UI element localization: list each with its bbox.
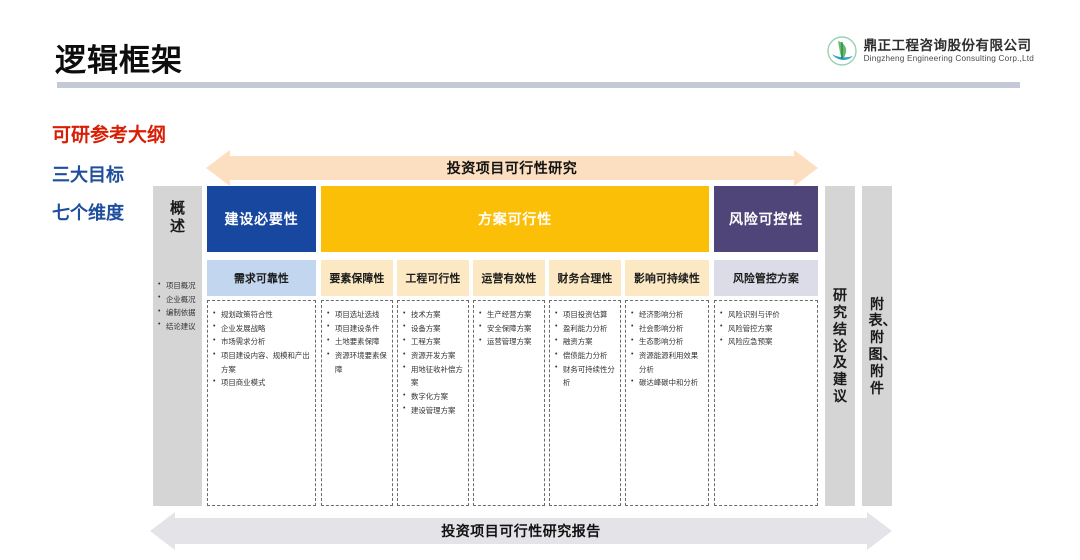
top-process-arrow: 投资项目可行性研究 bbox=[206, 150, 818, 186]
label-seven-dimensions: 七个维度 bbox=[52, 199, 124, 225]
list-item: 社会影响分析 bbox=[631, 322, 704, 336]
logo-name-en: Dingzheng Engineering Consulting Corp.,L… bbox=[864, 54, 1034, 64]
list-item: 盈利能力分析 bbox=[555, 322, 616, 336]
overview-title: 概述 bbox=[169, 200, 187, 235]
list-item: 企业概况 bbox=[158, 293, 198, 306]
detail-content-row: 规划政策符合性企业发展战略市场需求分析项目建设内容、规模和产出方案项目商业模式项… bbox=[207, 300, 818, 506]
list-item: 资源开发方案 bbox=[403, 349, 464, 363]
dimension-box-1[interactable]: 需求可靠性 bbox=[207, 260, 316, 296]
side-column-appendix: 附表、附图、附件 bbox=[862, 186, 892, 506]
list-item: 工程方案 bbox=[403, 335, 464, 349]
list-item: 融资方案 bbox=[555, 335, 616, 349]
detail-box-1: 规划政策符合性企业发展战略市场需求分析项目建设内容、规模和产出方案项目商业模式 bbox=[207, 300, 316, 506]
detail-box-5: 项目投资估算盈利能力分析融资方案偿债能力分析财务可持续性分析 bbox=[549, 300, 621, 506]
bottom-output-arrow: 投资项目可行性研究报告 bbox=[150, 512, 892, 550]
detail-box-3: 技术方案设备方案工程方案资源开发方案用地征收补偿方案数字化方案建设管理方案 bbox=[397, 300, 469, 506]
detail-box-6: 经济影响分析社会影响分析生态影响分析资源能源利用效果分析碳达峰碳中和分析 bbox=[625, 300, 709, 506]
list-item: 运营管理方案 bbox=[479, 335, 540, 349]
detail-bullet-list: 技术方案设备方案工程方案资源开发方案用地征收补偿方案数字化方案建设管理方案 bbox=[403, 308, 464, 418]
dimension-box-label: 风险管控方案 bbox=[733, 270, 799, 286]
top-arrow-label: 投资项目可行性研究 bbox=[206, 150, 818, 186]
dimension-box-label: 要素保障性 bbox=[330, 270, 385, 286]
group-box-3[interactable]: 风险可控性 bbox=[714, 186, 818, 252]
list-item: 数字化方案 bbox=[403, 390, 464, 404]
dimension-box-label: 影响可持续性 bbox=[634, 270, 700, 286]
list-item: 土地要素保障 bbox=[327, 335, 388, 349]
group-header-row: 建设必要性方案可行性风险可控性 bbox=[207, 186, 818, 252]
detail-bullet-list: 生产经营方案安全保障方案运营管理方案 bbox=[479, 308, 540, 349]
dimension-box-label: 财务合理性 bbox=[558, 270, 613, 286]
label-outline: 可研参考大纲 bbox=[52, 120, 166, 147]
dimension-box-7[interactable]: 风险管控方案 bbox=[714, 260, 818, 296]
dimension-box-2[interactable]: 要素保障性 bbox=[321, 260, 393, 296]
list-item: 项目建设条件 bbox=[327, 322, 388, 336]
list-item: 项目投资估算 bbox=[555, 308, 616, 322]
title-divider bbox=[57, 82, 1020, 88]
list-item: 生产经营方案 bbox=[479, 308, 540, 322]
list-item: 市场需求分析 bbox=[213, 335, 311, 349]
overview-bullet-list: 项目概况企业概况编制依据结论建议 bbox=[158, 279, 198, 333]
list-item: 安全保障方案 bbox=[479, 322, 540, 336]
detail-bullet-list: 规划政策符合性企业发展战略市场需求分析项目建设内容、规模和产出方案项目商业模式 bbox=[213, 308, 311, 390]
label-three-goals: 三大目标 bbox=[52, 161, 124, 187]
dimension-header-row: 需求可靠性要素保障性工程可行性运营有效性财务合理性影响可持续性风险管控方案 bbox=[207, 260, 818, 296]
list-item: 偿债能力分析 bbox=[555, 349, 616, 363]
detail-bullet-list: 风险识别与评价风险管控方案风险应急预案 bbox=[720, 308, 813, 349]
group-box-label: 风险可控性 bbox=[729, 209, 803, 229]
list-item: 碳达峰碳中和分析 bbox=[631, 376, 704, 390]
list-item: 项目概况 bbox=[158, 279, 198, 292]
group-box-2[interactable]: 方案可行性 bbox=[321, 186, 709, 252]
list-item: 用地征收补偿方案 bbox=[403, 363, 464, 390]
dimension-box-6[interactable]: 影响可持续性 bbox=[625, 260, 709, 296]
list-item: 规划政策符合性 bbox=[213, 308, 311, 322]
group-box-label: 建设必要性 bbox=[225, 209, 299, 229]
list-item: 生态影响分析 bbox=[631, 335, 704, 349]
group-box-label: 方案可行性 bbox=[478, 209, 552, 229]
dingzheng-leaf-logo-icon bbox=[827, 36, 857, 66]
side-column-appendix-label: 附表、附图、附件 bbox=[869, 296, 886, 397]
list-item: 设备方案 bbox=[403, 322, 464, 336]
list-item: 企业发展战略 bbox=[213, 322, 311, 336]
framework-board: 建设必要性方案可行性风险可控性 需求可靠性要素保障性工程可行性运营有效性财务合理… bbox=[207, 186, 818, 506]
side-column-conclusion-label: 研究结论及建议 bbox=[832, 287, 849, 405]
company-logo: 鼎正工程咨询股份有限公司 Dingzheng Engineering Consu… bbox=[827, 36, 1034, 66]
list-item: 项目选址选线 bbox=[327, 308, 388, 322]
list-item: 经济影响分析 bbox=[631, 308, 704, 322]
dimension-box-5[interactable]: 财务合理性 bbox=[549, 260, 621, 296]
side-column-conclusion: 研究结论及建议 bbox=[825, 186, 855, 506]
list-item: 财务可持续性分析 bbox=[555, 363, 616, 390]
list-item: 项目商业模式 bbox=[213, 376, 311, 390]
list-item: 资源环境要素保障 bbox=[327, 349, 388, 376]
list-item: 编制依据 bbox=[158, 306, 198, 319]
list-item: 技术方案 bbox=[403, 308, 464, 322]
list-item: 资源能源利用效果分析 bbox=[631, 349, 704, 376]
dimension-box-3[interactable]: 工程可行性 bbox=[397, 260, 469, 296]
list-item: 风险管控方案 bbox=[720, 322, 813, 336]
list-item: 建设管理方案 bbox=[403, 404, 464, 418]
bottom-arrow-label: 投资项目可行性研究报告 bbox=[150, 512, 892, 550]
list-item: 风险识别与评价 bbox=[720, 308, 813, 322]
page-title: 逻辑框架 bbox=[55, 35, 183, 80]
detail-box-7: 风险识别与评价风险管控方案风险应急预案 bbox=[714, 300, 818, 506]
list-item: 结论建议 bbox=[158, 320, 198, 333]
detail-bullet-list: 经济影响分析社会影响分析生态影响分析资源能源利用效果分析碳达峰碳中和分析 bbox=[631, 308, 704, 390]
group-box-1[interactable]: 建设必要性 bbox=[207, 186, 316, 252]
logo-text-block: 鼎正工程咨询股份有限公司 Dingzheng Engineering Consu… bbox=[864, 38, 1034, 64]
detail-bullet-list: 项目投资估算盈利能力分析融资方案偿债能力分析财务可持续性分析 bbox=[555, 308, 616, 390]
dimension-box-label: 运营有效性 bbox=[482, 270, 537, 286]
list-item: 风险应急预案 bbox=[720, 335, 813, 349]
dimension-box-label: 需求可靠性 bbox=[234, 270, 289, 286]
list-item: 项目建设内容、规模和产出方案 bbox=[213, 349, 311, 376]
logo-name-cn: 鼎正工程咨询股份有限公司 bbox=[864, 38, 1034, 54]
detail-box-2: 项目选址选线项目建设条件土地要素保障资源环境要素保障 bbox=[321, 300, 393, 506]
detail-box-4: 生产经营方案安全保障方案运营管理方案 bbox=[473, 300, 545, 506]
dimension-box-label: 工程可行性 bbox=[406, 270, 461, 286]
dimension-box-4[interactable]: 运营有效性 bbox=[473, 260, 545, 296]
overview-column: 概述 项目概况企业概况编制依据结论建议 bbox=[153, 186, 202, 506]
detail-bullet-list: 项目选址选线项目建设条件土地要素保障资源环境要素保障 bbox=[327, 308, 388, 376]
